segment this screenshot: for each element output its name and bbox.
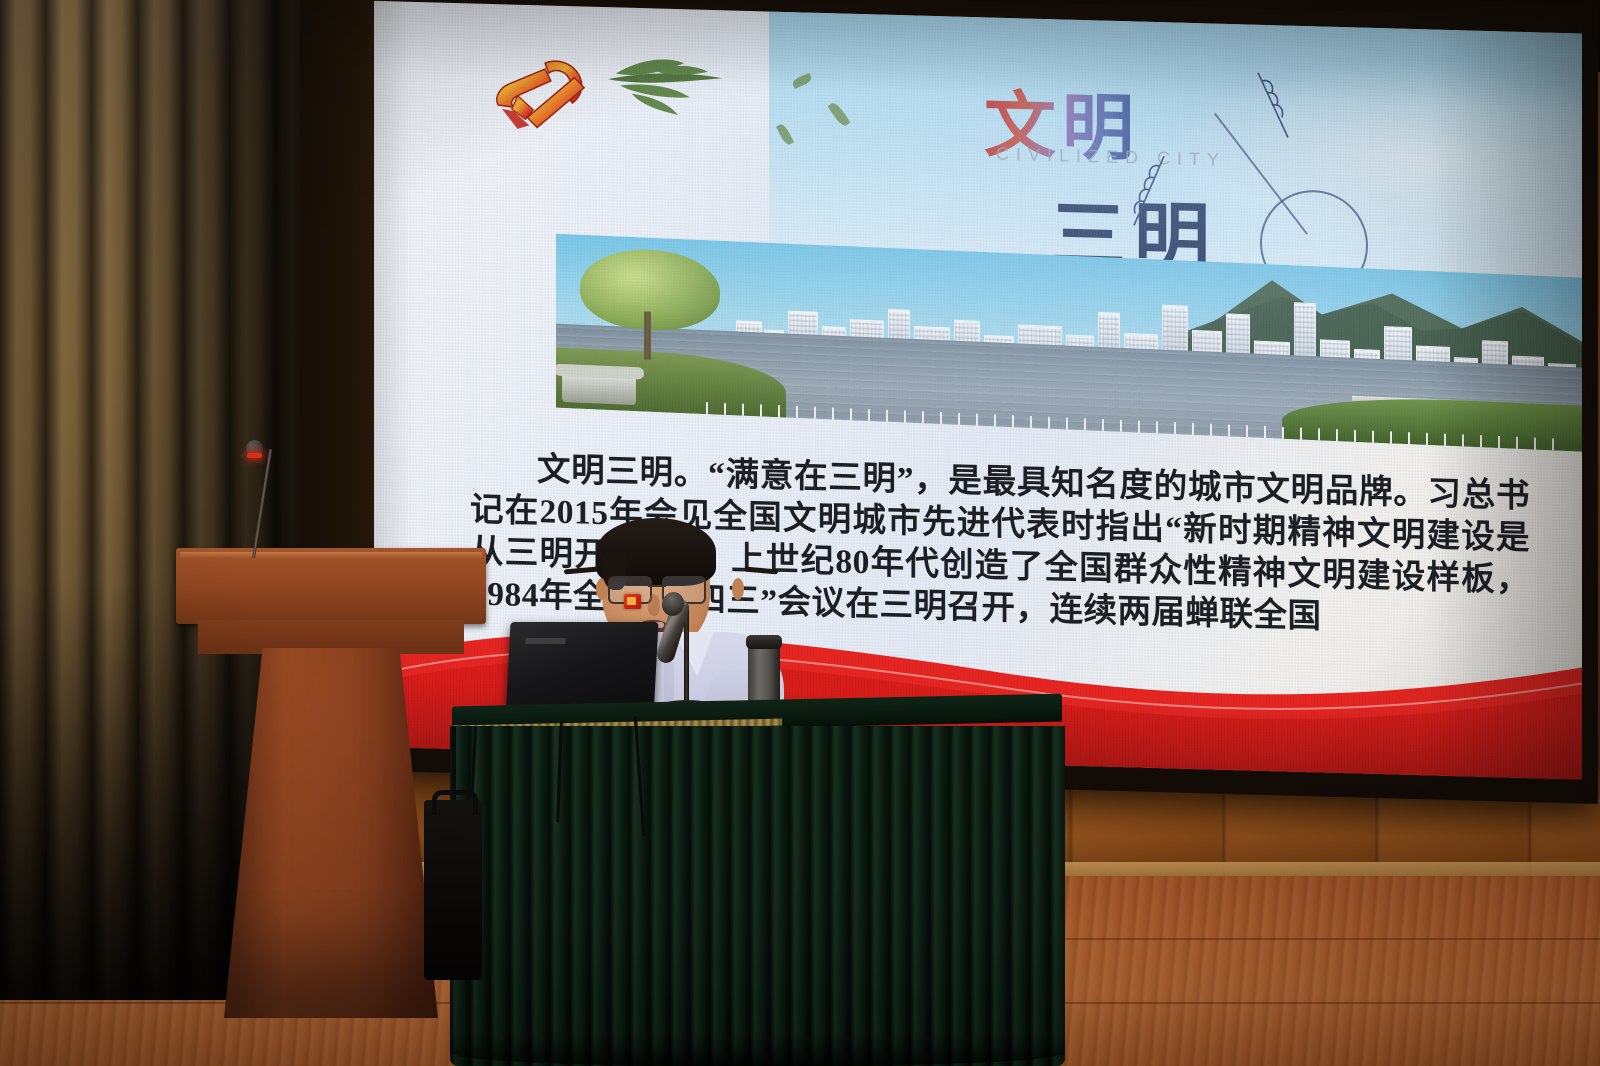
presenter-eyebrow-right [744,567,778,575]
photo-willow-tree [580,247,720,363]
wheat-sprig-icon [1250,69,1296,144]
party-badge-pin [624,594,641,609]
table-skirt-hem [450,1032,1065,1066]
case-handle [432,790,478,815]
microphone-led-indicator [247,453,262,458]
cpc-hammer-sickle-emblem [486,48,604,141]
lectern-column [224,648,438,1018]
equipment-case [424,800,482,980]
speaker-table-skirt [450,726,1065,1066]
bamboo-leaf-decoration [602,55,782,130]
thermos-cap [746,635,782,649]
presenter-eyebrow-left [564,567,598,575]
wheat-sprig-icon [1124,151,1172,232]
lectern-top [176,548,486,624]
presenter-nose [648,594,660,616]
laptop-brand-logo [525,638,565,644]
presenter-ear-right [732,578,744,600]
photo-pavilion [562,372,636,405]
presentation-hall-scene: 文明 CIVILIZED CITY 三明 [0,0,1600,1066]
